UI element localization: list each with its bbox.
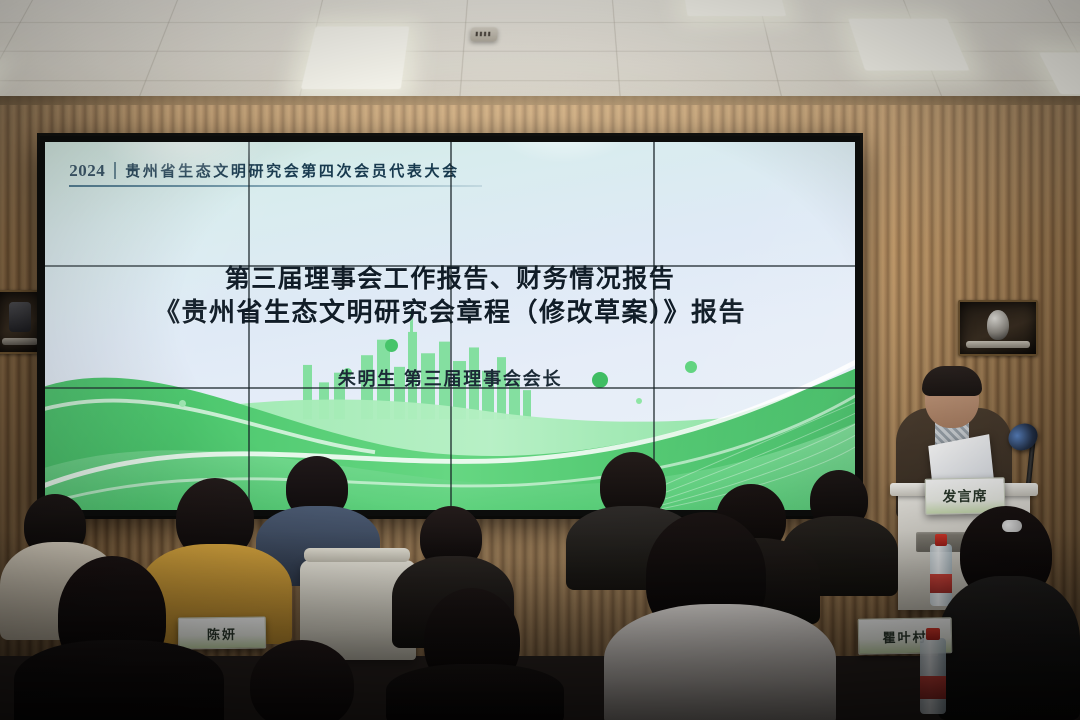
conference-photo: 2024 贵州省生态文明研究会第四次会员代表大会 第三届理事会工作报告、财务情况… [0, 0, 1080, 720]
niche-shelf [966, 341, 1030, 348]
audience-torso [938, 576, 1080, 720]
bottle-cap [935, 534, 947, 546]
niche-shelf [2, 338, 39, 345]
speaker-hair [922, 366, 982, 396]
podium-nameplate-text: 发言席 [942, 486, 987, 507]
video-wall-bezel [45, 387, 855, 389]
video-wall-bezel [653, 142, 655, 510]
chair-armrest [304, 548, 410, 562]
bottle-label [920, 676, 946, 698]
slide-event-title: 贵州省生态文明研究会第四次会员代表大会 [125, 164, 459, 179]
niche-equipment [9, 302, 31, 332]
led-video-wall[interactable]: 2024 贵州省生态文明研究会第四次会员代表大会 第三届理事会工作报告、财务情况… [40, 136, 860, 516]
header-divider [114, 162, 116, 179]
smoke-detector-icon [470, 28, 498, 42]
decorative-circle [385, 339, 398, 352]
bottle-label [930, 574, 952, 593]
audience-torso [386, 664, 564, 720]
ceiling [0, 0, 1080, 112]
audience-name-card-text: 陈妍 [207, 623, 237, 642]
right-wall-niche [958, 300, 1038, 356]
video-wall-bezel [450, 142, 452, 510]
slide-header-rule [69, 185, 482, 187]
video-wall-bezel [248, 142, 250, 510]
ceiling-light-panel [301, 27, 409, 90]
audience-torso [14, 640, 224, 720]
decorative-vase [987, 310, 1009, 340]
water-bottle [930, 534, 952, 606]
audience-name-card: 陈妍 [178, 617, 266, 650]
video-wall-bezel [45, 265, 855, 267]
hair-clip-icon [1002, 520, 1022, 532]
slide-header: 2024 贵州省生态文明研究会第四次会员代表大会 [69, 162, 459, 179]
bottle-cap [926, 628, 941, 640]
audience-torso [604, 604, 836, 720]
decorative-circle [179, 400, 186, 407]
presentation-slide: 2024 贵州省生态文明研究会第四次会员代表大会 第三届理事会工作报告、财务情况… [45, 142, 855, 510]
screen-glare [491, 142, 637, 164]
water-bottle [920, 628, 946, 714]
slide-year: 2024 [69, 162, 105, 179]
left-wall-niche [0, 290, 44, 354]
audience-head [250, 640, 354, 720]
ceiling-light-panel [684, 0, 786, 16]
